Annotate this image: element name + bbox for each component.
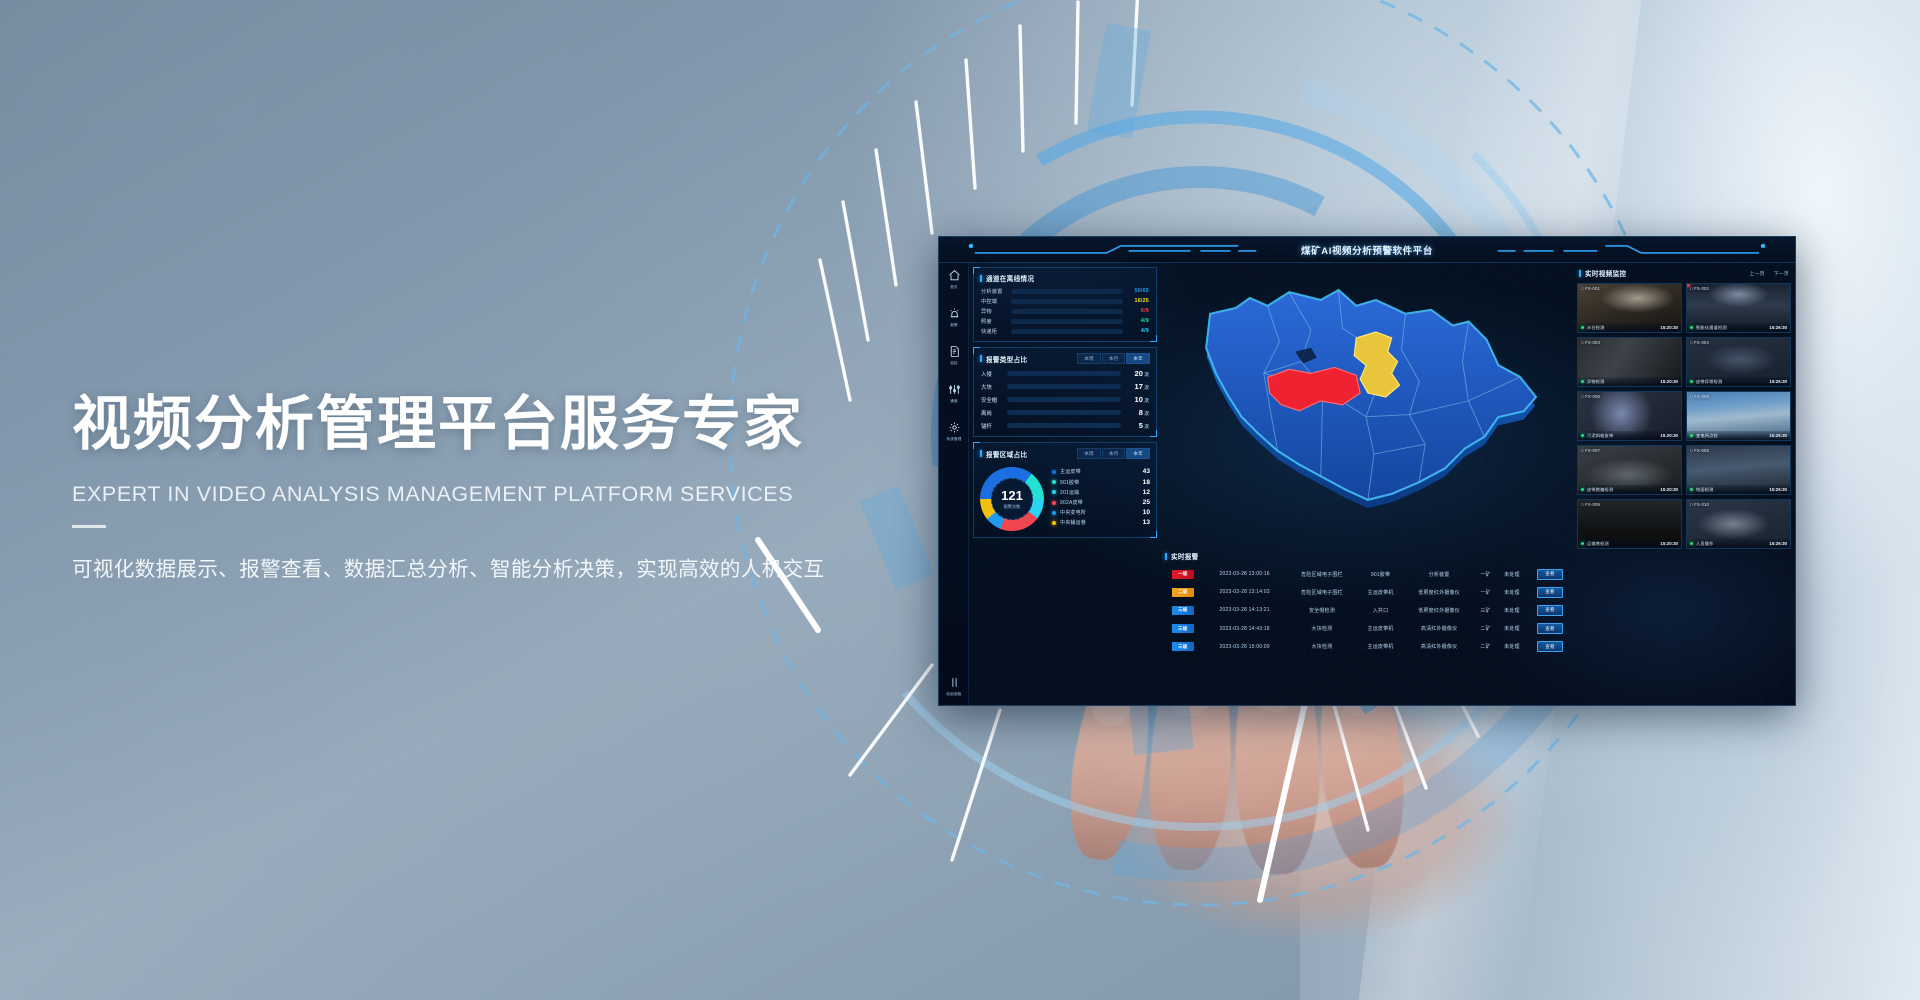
hero-subtitle: EXPERT IN VIDEO ANALYSIS MANAGEMENT PLAT… bbox=[72, 482, 912, 507]
sidebar-label-home: 首页 bbox=[939, 285, 969, 290]
channel-rows: 分析装置50/65中控端16/25异物6/9照度4/9快递柜4/9 bbox=[974, 286, 1156, 341]
alarm-device-cell: 高清红外摄像仪 bbox=[1404, 620, 1475, 638]
video-tile-footer: 皮带异常检测15:26:30 bbox=[1687, 377, 1790, 386]
donut-center: 121 报警次数 bbox=[991, 478, 1033, 520]
video-tile-label: 运输巷检测 bbox=[1587, 541, 1660, 547]
channel-row-track bbox=[1011, 329, 1123, 334]
alarm-device-cell: 低照度红外摄像仪 bbox=[1404, 601, 1475, 619]
video-tile[interactable]: □ FX-006变电所点检15:26:30 bbox=[1686, 391, 1791, 441]
alarm-status-cell: 未处理 bbox=[1497, 565, 1527, 583]
alarm-level-cell: 三级 bbox=[1163, 601, 1203, 619]
alarm-device-cell: 分析装置 bbox=[1404, 565, 1475, 583]
sidebar-item-channel[interactable]: 通道 bbox=[939, 377, 969, 415]
view-button[interactable]: 查看 bbox=[1537, 569, 1563, 580]
realtime-alarm-header: 实时报警 bbox=[1163, 549, 1573, 565]
channel-icon bbox=[948, 383, 961, 396]
channel-row-label: 异物 bbox=[981, 308, 1011, 315]
alarm-area-cell: 主运皮带机 bbox=[1357, 583, 1403, 601]
alarm-type-cell: 大块检测 bbox=[1287, 620, 1358, 638]
video-tile-label: 异物检测 bbox=[1587, 379, 1660, 385]
video-tile[interactable]: □ FX-002智能化通道检测15:26:30 bbox=[1686, 283, 1791, 333]
channel-card-header: 通道在离线情况 bbox=[974, 268, 1156, 286]
online-status-dot bbox=[1690, 434, 1693, 437]
realtime-alarm-title: 实时报警 bbox=[1171, 551, 1199, 561]
video-tile[interactable]: □ FX-008地面检测15:26:30 bbox=[1686, 445, 1791, 495]
alarm-type-label: 安全帽 bbox=[981, 396, 1007, 404]
video-tile-label: 智能化通道检测 bbox=[1696, 325, 1769, 331]
alarm-time-cell: 2023-03-28 14:43:18 bbox=[1203, 620, 1287, 638]
alarm-type-card-title: 报警类型占比 bbox=[986, 354, 1027, 364]
video-tile-label: 水仓检测 bbox=[1587, 325, 1660, 331]
video-channel-code: □ FX-009 bbox=[1581, 502, 1600, 507]
channel-row-track bbox=[1011, 289, 1123, 294]
video-channel-code: □ FX-007 bbox=[1581, 448, 1600, 453]
video-tile[interactable]: □ FX-010人员操作15:26:30 bbox=[1686, 499, 1791, 549]
alarm-device-cell: 低照度红外摄像仪 bbox=[1404, 583, 1475, 601]
next-page-button[interactable]: 下一页 bbox=[1774, 270, 1789, 277]
status-badge: 三级 bbox=[1172, 606, 1194, 615]
channel-row-track bbox=[1011, 309, 1123, 314]
legend-value: 25 bbox=[1134, 499, 1150, 506]
status-badge: 三级 bbox=[1172, 642, 1194, 651]
period-tab[interactable]: 本周 bbox=[1077, 353, 1101, 364]
legend-item: 902A皮带25 bbox=[1052, 499, 1150, 506]
legend-value: 10 bbox=[1134, 509, 1150, 516]
alarm-type-cell: 安全帽检测 bbox=[1287, 601, 1358, 619]
alarm-type-rows: 入侵20次大块17次安全帽10次离岗8次锚杆5次 bbox=[974, 367, 1156, 436]
video-timestamp: 15:20:30 bbox=[1660, 541, 1678, 546]
legend-label: 中央辅运巷 bbox=[1060, 519, 1134, 526]
center-column: 实时报警 一级2023-03-28 13:00:16危险区域电子围栏901胶带分… bbox=[1163, 267, 1573, 699]
page-title: 视频分析管理平台服务专家 bbox=[72, 390, 912, 460]
video-tile-footer: 人员操作15:26:30 bbox=[1687, 539, 1790, 548]
period-tab[interactable]: 本年 bbox=[1126, 448, 1150, 459]
video-tile-label: 污泥斜坡皮带 bbox=[1587, 433, 1660, 439]
sidebar-label-alarm: 报警 bbox=[939, 323, 969, 328]
period-tab[interactable]: 本周 bbox=[1077, 448, 1101, 459]
status-badge: 二级 bbox=[1172, 588, 1194, 597]
channel-row: 分析装置50/65 bbox=[974, 286, 1156, 296]
channel-row: 异物6/9 bbox=[974, 306, 1156, 316]
card-accent-bar bbox=[980, 275, 982, 282]
period-tab[interactable]: 本年 bbox=[1126, 353, 1150, 364]
gear-icon bbox=[948, 421, 961, 434]
alarm-area-cell: 入井口 bbox=[1357, 601, 1403, 619]
video-tile[interactable]: □ FX-001水仓检测15:20:30 bbox=[1577, 283, 1682, 333]
alarm-action-cell: 查看 bbox=[1527, 601, 1573, 619]
video-timestamp: 15:26:30 bbox=[1769, 379, 1787, 384]
alarm-time-cell: 2023-03-28 13:14:03 bbox=[1203, 583, 1287, 601]
video-channel-code: □ FX-005 bbox=[1581, 394, 1600, 399]
video-timestamp: 15:20:30 bbox=[1660, 325, 1678, 330]
dashboard-title: 煤矿AI视频分析预警软件平台 bbox=[939, 243, 1795, 257]
inspection-icon bbox=[948, 345, 961, 358]
table-row: 三级2023-03-28 15:00:00大块检测主运皮带机高清红外摄像仪二矿未… bbox=[1163, 638, 1573, 656]
channel-row: 快递柜4/9 bbox=[974, 326, 1156, 336]
video-channel-code: □ FX-010 bbox=[1690, 502, 1709, 507]
legend-color-dot bbox=[1052, 511, 1056, 515]
alarm-area-tabs: 本周本月本年 bbox=[1077, 448, 1150, 459]
legend-label: 902A皮带 bbox=[1060, 499, 1134, 506]
table-row: 三级2023-03-28 14:13:21安全帽检测入井口低照度红外摄像仪三矿未… bbox=[1163, 601, 1573, 619]
card-accent-bar bbox=[980, 355, 982, 362]
legend-color-dot bbox=[1052, 490, 1056, 494]
alarm-action-cell: 查看 bbox=[1527, 638, 1573, 656]
video-tile-label: 皮带跑偏检测 bbox=[1587, 487, 1660, 493]
hero-divider bbox=[72, 525, 106, 528]
alarm-area-cell: 901胶带 bbox=[1357, 565, 1403, 583]
video-channel-code: □ FX-006 bbox=[1690, 394, 1709, 399]
sidebar-label-system: 系统管理 bbox=[939, 437, 969, 442]
alarm-type-row: 离岗8次 bbox=[974, 406, 1156, 419]
alarm-type-track bbox=[1007, 410, 1121, 415]
period-tab[interactable]: 本月 bbox=[1102, 448, 1126, 459]
province-map[interactable] bbox=[1165, 271, 1575, 517]
sidebar-item-system[interactable]: 系统管理 bbox=[939, 415, 969, 453]
alarm-table-body: 一级2023-03-28 13:00:16危险区域电子围栏901胶带分析装置一矿… bbox=[1163, 565, 1573, 656]
channel-row-track bbox=[1011, 299, 1123, 304]
alarm-type-label: 离岗 bbox=[981, 409, 1007, 417]
legend-item: 中央辅运巷13 bbox=[1052, 519, 1150, 526]
legend-value: 13 bbox=[1134, 519, 1150, 526]
alarm-type-value: 10次 bbox=[1121, 395, 1149, 404]
alarm-type-card-header: 报警类型占比 本周本月本年 bbox=[974, 348, 1156, 367]
channel-row-label: 快递柜 bbox=[981, 328, 1011, 335]
alarm-table: 一级2023-03-28 13:00:16危险区域电子围栏901胶带分析装置一矿… bbox=[1163, 565, 1573, 656]
alarm-level-cell: 二级 bbox=[1163, 583, 1203, 601]
video-panel: 实时视频监控 上一页 下一页 □ FX-001水仓检测15:20:30□ FX-… bbox=[1577, 267, 1791, 699]
channel-row-label: 照度 bbox=[981, 318, 1011, 325]
legend-item: 主运皮带43 bbox=[1052, 468, 1150, 475]
period-tab[interactable]: 本月 bbox=[1102, 353, 1126, 364]
video-timestamp: 15:20:30 bbox=[1660, 487, 1678, 492]
legend-label: 201运输 bbox=[1060, 489, 1134, 496]
alarm-type-cell: 大块检测 bbox=[1287, 638, 1358, 656]
online-status-dot bbox=[1581, 434, 1584, 437]
alarm-mine-cell: 二矿 bbox=[1474, 620, 1496, 638]
video-timestamp: 15:26:30 bbox=[1769, 433, 1787, 438]
channel-status-card: 通道在离线情况 分析装置50/65中控端16/25异物6/9照度4/9快递柜4/… bbox=[973, 267, 1157, 342]
alarm-time-cell: 2023-03-28 14:13:21 bbox=[1203, 601, 1287, 619]
alarm-type-track bbox=[1007, 371, 1121, 376]
alarm-mine-cell: 一矿 bbox=[1474, 583, 1496, 601]
sidebar-collapse-label: 收起面板 bbox=[939, 692, 969, 697]
channel-row-label: 分析装置 bbox=[981, 288, 1011, 295]
collapse-icon bbox=[948, 676, 961, 689]
video-tile-footer: 运输巷检测15:20:30 bbox=[1578, 539, 1681, 548]
legend-label: 主运皮带 bbox=[1060, 468, 1134, 475]
channel-card-title: 通道在离线情况 bbox=[986, 273, 1034, 283]
video-timestamp: 15:26:30 bbox=[1769, 487, 1787, 492]
alarm-type-value: 5次 bbox=[1121, 421, 1149, 430]
alarm-type-cell: 危险区域电子围栏 bbox=[1287, 583, 1358, 601]
channel-row-value: 4/9 bbox=[1123, 318, 1149, 324]
view-button[interactable]: 查看 bbox=[1537, 641, 1563, 652]
video-tile-footer: 水仓检测15:20:30 bbox=[1578, 323, 1681, 332]
alarm-action-cell: 查看 bbox=[1527, 620, 1573, 638]
online-status-dot bbox=[1690, 542, 1693, 545]
donut-chart: 121 报警次数 bbox=[980, 467, 1044, 531]
channel-row-value: 16/25 bbox=[1123, 298, 1149, 304]
status-badge: 一级 bbox=[1172, 570, 1194, 579]
alarm-type-card: 报警类型占比 本周本月本年 入侵20次大块17次安全帽10次离岗8次锚杆5次 bbox=[973, 347, 1157, 437]
alarm-mine-cell: 三矿 bbox=[1474, 601, 1496, 619]
legend-item: 901胶带18 bbox=[1052, 479, 1150, 486]
online-status-dot bbox=[1690, 380, 1693, 383]
map-panel bbox=[1163, 267, 1573, 517]
card-accent-bar bbox=[980, 450, 982, 457]
legend-color-dot bbox=[1052, 470, 1056, 474]
alarm-area-card-title: 报警区域占比 bbox=[986, 449, 1027, 459]
alarm-time-cell: 2023-03-28 15:00:00 bbox=[1203, 638, 1287, 656]
legend-value: 43 bbox=[1134, 468, 1150, 475]
online-status-dot bbox=[1581, 542, 1584, 545]
dashboard-header: 煤矿AI视频分析预警软件平台 bbox=[939, 237, 1795, 263]
online-status-dot bbox=[1690, 488, 1693, 491]
video-tile-label: 地面检测 bbox=[1696, 487, 1769, 493]
video-tile-label: 人员操作 bbox=[1696, 541, 1769, 547]
alarm-level-cell: 三级 bbox=[1163, 620, 1203, 638]
video-tile-footer: 变电所点检15:26:30 bbox=[1687, 431, 1790, 440]
video-channel-code: □ FX-002 bbox=[1690, 286, 1709, 291]
legend-label: 中央变电所 bbox=[1060, 509, 1134, 516]
alarm-type-value: 20次 bbox=[1121, 369, 1149, 378]
card-accent-bar bbox=[1579, 270, 1581, 277]
alarm-time-cell: 2023-03-28 13:00:16 bbox=[1203, 565, 1287, 583]
video-tile-footer: 异物检测15:20:30 bbox=[1578, 377, 1681, 386]
donut-legend: 主运皮带43901胶带18201运输12902A皮带25中央变电所10中央辅运巷… bbox=[1044, 468, 1150, 529]
table-row: 一级2023-03-28 13:00:16危险区域电子围栏901胶带分析装置一矿… bbox=[1163, 565, 1573, 583]
alarm-type-cell: 危险区域电子围栏 bbox=[1287, 565, 1358, 583]
video-tile-label: 变电所点检 bbox=[1696, 433, 1769, 439]
video-panel-title: 实时视频监控 bbox=[1585, 268, 1626, 278]
channel-row: 照度4/9 bbox=[974, 316, 1156, 326]
alarm-type-track bbox=[1007, 384, 1121, 389]
online-status-dot bbox=[1581, 488, 1584, 491]
video-tile[interactable]: □ FX-009运输巷检测15:20:30 bbox=[1577, 499, 1682, 549]
video-channel-code: □ FX-004 bbox=[1690, 340, 1709, 345]
hero-block: 视频分析管理平台服务专家 EXPERT IN VIDEO ANALYSIS MA… bbox=[72, 390, 912, 582]
donut-total-value: 121 bbox=[1001, 489, 1023, 502]
alarm-device-cell: 高清红外摄像仪 bbox=[1404, 638, 1475, 656]
alarm-status-cell: 未处理 bbox=[1497, 583, 1527, 601]
alarm-level-cell: 一级 bbox=[1163, 565, 1203, 583]
alarm-type-row: 大块17次 bbox=[974, 380, 1156, 393]
video-tile-footer: 皮带跑偏检测15:20:30 bbox=[1578, 485, 1681, 494]
legend-label: 901胶带 bbox=[1060, 479, 1134, 486]
channel-row-track bbox=[1011, 319, 1123, 324]
hero-description: 可视化数据展示、报警查看、数据汇总分析、智能分析决策，实现高效的人机交互 bbox=[72, 552, 912, 582]
table-row: 二级2023-03-28 13:14:03危险区域电子围栏主运皮带机低照度红外摄… bbox=[1163, 583, 1573, 601]
video-tile-footer: 污泥斜坡皮带15:20:30 bbox=[1578, 431, 1681, 440]
alarm-type-row: 锚杆5次 bbox=[974, 419, 1156, 432]
alarm-type-value: 8次 bbox=[1121, 408, 1149, 417]
legend-item: 中央变电所10 bbox=[1052, 509, 1150, 516]
donut-total-caption: 报警次数 bbox=[1004, 504, 1021, 510]
home-icon bbox=[948, 269, 961, 282]
channel-row-label: 中控端 bbox=[981, 298, 1011, 305]
alarm-status-cell: 未处理 bbox=[1497, 601, 1527, 619]
table-row: 三级2023-03-28 14:43:18大块检测主运皮带机高清红外摄像仪二矿未… bbox=[1163, 620, 1573, 638]
alarm-area-cell: 主运皮带机 bbox=[1357, 638, 1403, 656]
alarm-type-label: 入侵 bbox=[981, 370, 1007, 378]
sidebar-item-alarm[interactable]: 报警 bbox=[939, 301, 969, 339]
video-tile-footer: 地面检测15:26:30 bbox=[1687, 485, 1790, 494]
video-timestamp: 15:26:30 bbox=[1769, 325, 1787, 330]
alarm-area-cell: 主运皮带机 bbox=[1357, 620, 1403, 638]
view-button[interactable]: 查看 bbox=[1537, 587, 1563, 598]
sidebar-label-channel: 通道 bbox=[939, 399, 969, 404]
sidebar: 首页 报警 巡检 通道 系统管理 bbox=[939, 263, 969, 705]
video-tile[interactable]: □ FX-007皮带跑偏检测15:20:30 bbox=[1577, 445, 1682, 495]
alarm-area-card: 报警区域占比 本周本月本年 121 报警次数 主运皮带43901胶带18201运… bbox=[973, 442, 1157, 538]
video-timestamp: 15:26:30 bbox=[1769, 541, 1787, 546]
legend-item: 201运输12 bbox=[1052, 489, 1150, 496]
prev-page-button[interactable]: 上一页 bbox=[1749, 270, 1764, 277]
dashboard-window: 煤矿AI视频分析预警软件平台 首页 报警 巡检 通道 bbox=[938, 236, 1796, 706]
video-timestamp: 15:20:30 bbox=[1660, 379, 1678, 384]
legend-value: 18 bbox=[1134, 479, 1150, 486]
alarm-status-cell: 未处理 bbox=[1497, 620, 1527, 638]
view-button[interactable]: 查看 bbox=[1537, 623, 1563, 634]
alarm-type-value: 17次 bbox=[1121, 382, 1149, 391]
video-tile-footer: 智能化通道检测15:26:30 bbox=[1687, 323, 1790, 332]
alarm-type-tabs: 本周本月本年 bbox=[1077, 353, 1150, 364]
video-timestamp: 15:20:30 bbox=[1660, 433, 1678, 438]
alarm-area-card-header: 报警区域占比 本周本月本年 bbox=[974, 443, 1156, 462]
video-grid: □ FX-001水仓检测15:20:30□ FX-002智能化通道检测15:26… bbox=[1577, 283, 1791, 549]
video-tile[interactable]: □ FX-003异物检测15:20:30 bbox=[1577, 337, 1682, 387]
video-channel-code: □ FX-001 bbox=[1581, 286, 1600, 291]
video-tile[interactable]: □ FX-004皮带异常检测15:26:30 bbox=[1686, 337, 1791, 387]
sidebar-item-home[interactable]: 首页 bbox=[939, 263, 969, 301]
video-tile[interactable]: □ FX-005污泥斜坡皮带15:20:30 bbox=[1577, 391, 1682, 441]
status-badge: 三级 bbox=[1172, 624, 1194, 633]
video-channel-code: □ FX-003 bbox=[1581, 340, 1600, 345]
legend-color-dot bbox=[1052, 501, 1056, 505]
channel-row: 中控端16/25 bbox=[974, 296, 1156, 306]
alarm-type-label: 锚杆 bbox=[981, 422, 1007, 430]
legend-color-dot bbox=[1052, 521, 1056, 525]
sidebar-collapse-button[interactable]: 收起面板 bbox=[939, 676, 969, 697]
sidebar-label-inspection: 巡检 bbox=[939, 361, 969, 366]
online-status-dot bbox=[1690, 326, 1693, 329]
alarm-action-cell: 查看 bbox=[1527, 565, 1573, 583]
sidebar-item-inspection[interactable]: 巡检 bbox=[939, 339, 969, 377]
alarm-type-row: 入侵20次 bbox=[974, 367, 1156, 380]
left-panel-column: 通道在离线情况 分析装置50/65中控端16/25异物6/9照度4/9快递柜4/… bbox=[973, 267, 1157, 699]
alarm-type-track bbox=[1007, 397, 1121, 402]
view-button[interactable]: 查看 bbox=[1537, 605, 1563, 616]
channel-row-value: 4/9 bbox=[1123, 328, 1149, 334]
video-channel-code: □ FX-008 bbox=[1690, 448, 1709, 453]
alarm-area-chart-wrap: 121 报警次数 主运皮带43901胶带18201运输12902A皮带25中央变… bbox=[974, 462, 1156, 537]
alarm-status-cell: 未处理 bbox=[1497, 638, 1527, 656]
legend-color-dot bbox=[1052, 480, 1056, 484]
card-accent-bar bbox=[1165, 553, 1167, 560]
alarm-action-cell: 查看 bbox=[1527, 583, 1573, 601]
realtime-alarm-card: 实时报警 一级2023-03-28 13:00:16危险区域电子围栏901胶带分… bbox=[1163, 549, 1573, 699]
video-panel-header: 实时视频监控 上一页 下一页 bbox=[1577, 267, 1791, 283]
alarm-level-cell: 三级 bbox=[1163, 638, 1203, 656]
alarm-type-track bbox=[1007, 423, 1121, 428]
legend-value: 12 bbox=[1134, 489, 1150, 496]
alarm-type-label: 大块 bbox=[981, 383, 1007, 391]
channel-row-value: 50/65 bbox=[1123, 288, 1149, 294]
alarm-mine-cell: 一矿 bbox=[1474, 565, 1496, 583]
channel-row-value: 6/9 bbox=[1123, 308, 1149, 314]
online-status-dot bbox=[1581, 326, 1584, 329]
alarm-icon bbox=[948, 307, 961, 320]
alarm-mine-cell: 二矿 bbox=[1474, 638, 1496, 656]
online-status-dot bbox=[1581, 380, 1584, 383]
alarm-type-row: 安全帽10次 bbox=[974, 393, 1156, 406]
video-tile-label: 皮带异常检测 bbox=[1696, 379, 1769, 385]
